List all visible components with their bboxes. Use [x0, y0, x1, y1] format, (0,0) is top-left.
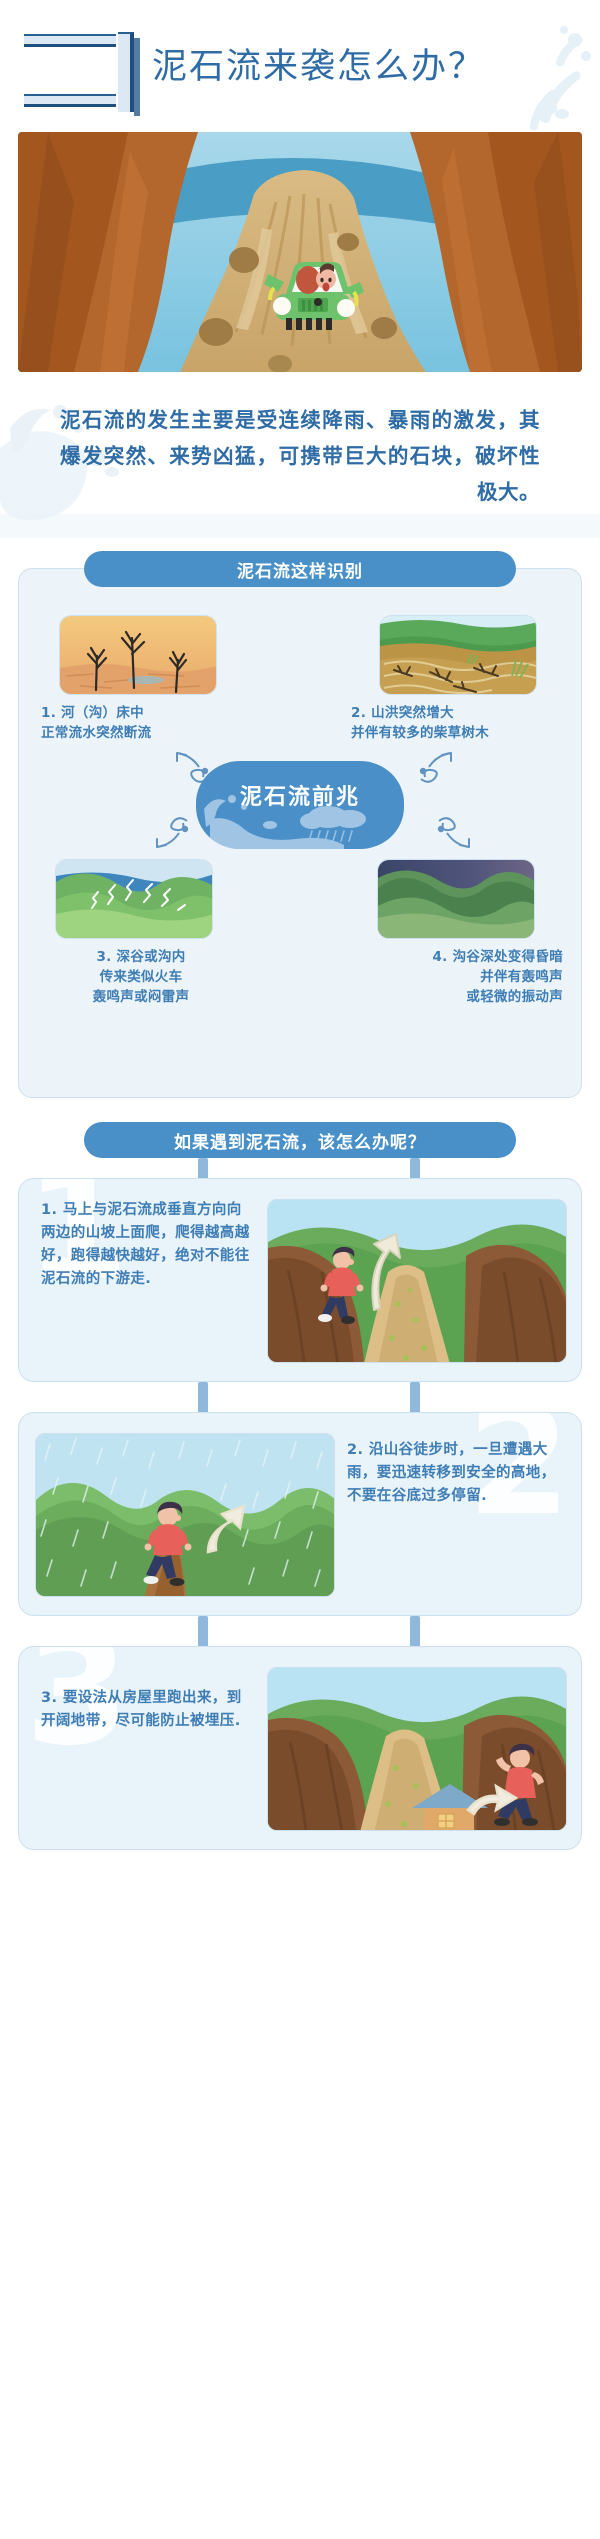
identify-thumb-3: [55, 859, 213, 939]
identify-thumb-4: [377, 859, 535, 939]
identify-section: 泥石流这样识别: [18, 568, 582, 1098]
identify-section-banner: 泥石流这样识别: [84, 551, 516, 587]
connector-line-left-2: [198, 1382, 208, 1416]
identify-center-badge-label: 泥石流前兆: [240, 779, 360, 811]
intro-section: 泥石流的发生主要是受连续降雨、暴雨的激发，其爆发突然、来势凶猛，可携带巨大的石块…: [0, 388, 600, 538]
numeral-spine: [118, 32, 134, 112]
connector-line-right-2: [410, 1382, 420, 1416]
action-card-1-text: 1. 马上与泥石流成垂直方向向两边的山坡上面爬，爬得越高越好，跑得越快越好，绝对…: [41, 1199, 251, 1291]
action-card-1: 1 1. 马上与泥石流成垂直方向向两边的山坡上面爬，爬得越高越好，跑得越快越好，…: [18, 1178, 582, 1382]
numeral-bar-top: [24, 34, 116, 47]
action-section-banner: 如果遇到泥石流，该怎么办呢？: [84, 1122, 516, 1158]
connector-line-left-3: [198, 1616, 208, 1650]
identify-caption-1: 1. 河（沟）床中 正常流水突然断流: [41, 703, 251, 743]
action-card-3-image: [267, 1667, 567, 1831]
action-banner-wrap: 如果遇到泥石流，该怎么办呢？: [18, 1122, 582, 1158]
action-card-2-text: 2. 沿山谷徒步时，一旦遭遇大雨，要迅速转移到安全的高地，不要在谷底过多停留.: [347, 1439, 563, 1508]
identify-center-badge: 泥石流前兆: [196, 761, 404, 849]
identify-thumb-1: [59, 615, 217, 695]
action-card-3: 3 3. 要设法从房屋里跑出来，到开阔地带，尽可能防止被埋压.: [18, 1646, 582, 1850]
action-card-2-image: [35, 1433, 335, 1597]
numeral-spine-shadow: [134, 38, 140, 116]
identify-caption-2: 2. 山洪突然增大 并伴有较多的柴草树木: [351, 703, 566, 743]
page-title: 泥石流来袭怎么办？: [152, 38, 485, 89]
identify-caption-3: 3. 深谷或沟内 传来类似火车 轰鸣声或闷雷声: [41, 947, 241, 1007]
action-card-1-image: [267, 1199, 567, 1363]
connector-line-right-3: [410, 1616, 420, 1650]
intro-paragraph: 泥石流的发生主要是受连续降雨、暴雨的激发，其爆发突然、来势凶猛，可携带巨大的石块…: [60, 402, 540, 510]
action-card-2: 2 2. 沿山谷徒步时，一旦遭遇大雨，要迅速转移到安全的高地，不要在谷底过多停留…: [18, 1412, 582, 1616]
identify-thumb-2: [379, 615, 537, 695]
identify-caption-4: 4. 沟谷深处变得昏暗 并伴有轰鸣声 或轻微的振动声: [347, 947, 563, 1007]
hero-illustration: [18, 132, 582, 372]
curved-arrow-down-right-icon: [433, 817, 477, 855]
curved-arrow-down-left-icon: [149, 817, 193, 855]
action-section: 如果遇到泥石流，该怎么办呢？ 1 1. 马上与泥石流成垂直方向向两边的山坡上面爬…: [18, 1122, 582, 2522]
water-splash-icon: [444, 22, 594, 132]
action-card-3-text: 3. 要设法从房屋里跑出来，到开阔地带，尽可能防止被埋压.: [41, 1687, 256, 1733]
section-numeral-three: [24, 32, 134, 112]
numeral-bar-bottom: [24, 94, 116, 107]
curved-arrow-up-right-icon: [415, 745, 459, 783]
page-header: 泥石流来袭怎么办？: [0, 0, 600, 128]
